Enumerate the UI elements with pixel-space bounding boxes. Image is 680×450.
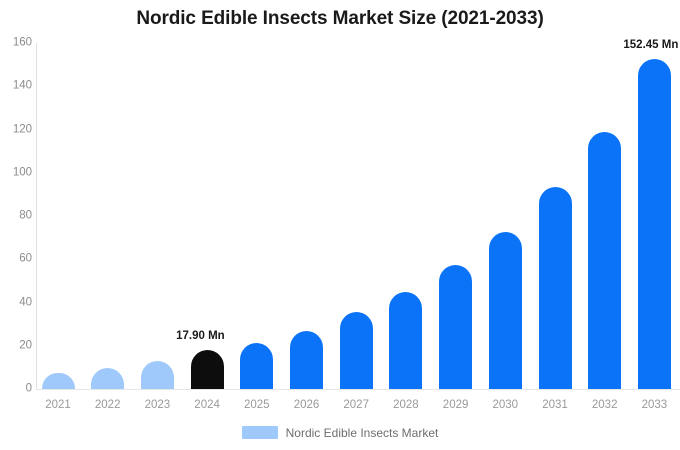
bar-2025[interactable] [240,343,273,389]
y-axis: 020406080100120140160 [0,0,32,450]
x-axis-tick-label-2029: 2029 [431,400,481,412]
x-axis-tick-label-2033: 2033 [629,400,679,412]
y-axis-tick-label: 60 [2,254,32,266]
bar-2028[interactable] [389,292,422,389]
bar-value-label-2033: 152.45 Mn [623,40,678,52]
x-axis-tick-label-2025: 2025 [232,400,282,412]
bar-value-label-2024: 17.90 Mn [176,331,225,343]
x-axis-tick-label-2032: 2032 [580,400,630,412]
x-axis-tick-label-2026: 2026 [282,400,332,412]
y-axis-tick-label: 140 [2,81,32,93]
bar-2027[interactable] [340,312,373,389]
y-axis-tick-label: 120 [2,124,32,136]
x-axis-line [36,389,680,390]
bar-2033[interactable] [638,59,671,389]
legend-swatch-nordic-edible-insects-market [242,426,278,439]
chart-legend: Nordic Edible Insects Market [0,426,680,439]
bar-2026[interactable] [290,331,323,389]
y-axis-tick-label: 80 [2,210,32,222]
x-axis-tick-label-2024: 2024 [182,400,232,412]
bars-layer [36,43,680,389]
bar-2029[interactable] [439,265,472,389]
y-axis-tick-label: 20 [2,340,32,352]
x-axis-tick-label-2031: 2031 [530,400,580,412]
x-axis-tick-label-2023: 2023 [132,400,182,412]
x-axis-tick-label-2027: 2027 [331,400,381,412]
y-axis-tick-label: 160 [2,37,32,49]
bar-2022[interactable] [91,368,124,389]
chart-title: Nordic Edible Insects Market Size (2021-… [0,8,680,30]
y-axis-tick-label: 100 [2,167,32,179]
x-axis-tick-label-2028: 2028 [381,400,431,412]
bar-2031[interactable] [539,187,572,389]
bar-2024[interactable] [191,350,224,389]
x-axis-tick-label-2030: 2030 [480,400,530,412]
x-axis-tick-label-2022: 2022 [83,400,133,412]
y-axis-tick-label: 40 [2,297,32,309]
x-axis-tick-label-2021: 2021 [33,400,83,412]
bar-2021[interactable] [42,373,75,389]
bar-2030[interactable] [489,232,522,389]
y-axis-tick-label: 0 [2,383,32,395]
bar-2023[interactable] [141,361,174,389]
bar-2032[interactable] [588,132,621,389]
legend-label-nordic-edible-insects-market: Nordic Edible Insects Market [286,427,439,439]
bar-chart: Nordic Edible Insects Market Size (2021-… [0,0,680,450]
